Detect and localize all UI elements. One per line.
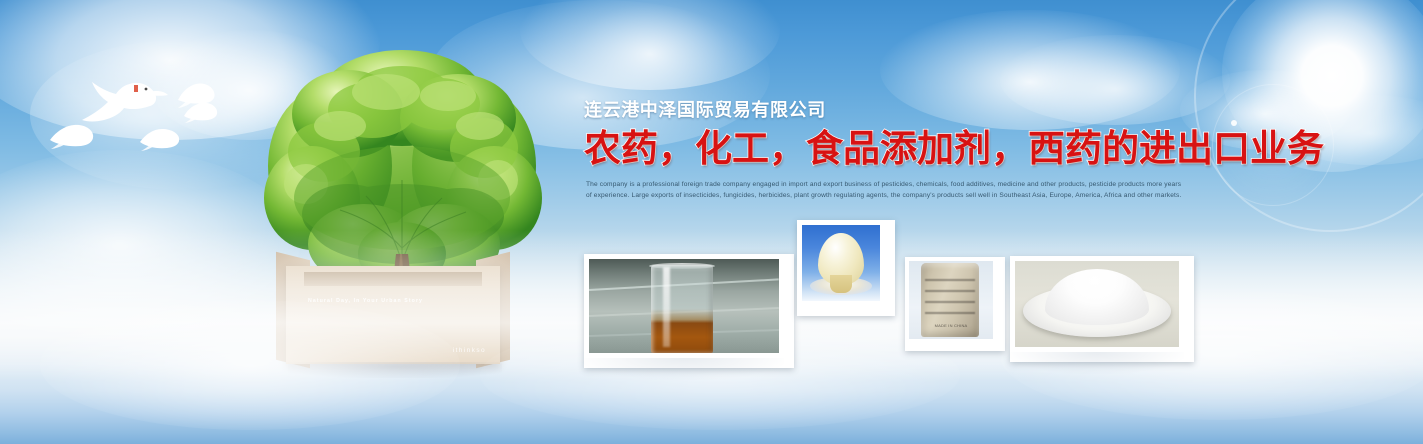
bag-made-in-text: MADE IN CHINA <box>935 323 968 328</box>
box-logo: ithinkso <box>453 347 486 354</box>
glass-bottle <box>651 265 713 353</box>
dove-small-upper-icon <box>172 80 218 114</box>
powder-scoop <box>830 275 852 293</box>
dove-bottom-left-icon <box>46 122 98 156</box>
dove-small-right-icon <box>180 100 220 128</box>
woven-bag-scene: MADE IN CHINA <box>909 261 993 339</box>
bottle-rim <box>649 263 715 269</box>
cloud-center-upper <box>520 0 780 90</box>
headline-text-block: 连云港中泽国际贸易有限公司 农药，化工，食品添加剂，西药的进出口业务 The c… <box>584 98 1204 201</box>
box-slogan: Natural Day, In Your Urban Story <box>308 298 423 304</box>
product-photo-white-powder-plate[interactable] <box>1010 256 1194 362</box>
bottle-scene <box>589 259 779 353</box>
white-powder-heap <box>1045 269 1149 325</box>
bag-label-line-1 <box>925 279 975 281</box>
dove-bottom-mid-icon <box>136 126 184 158</box>
sun-flare-ring-outer <box>1194 0 1423 232</box>
bag-label-line-2 <box>925 290 975 292</box>
yellow-powder-scene <box>802 225 880 301</box>
bag-label-line-3 <box>925 301 975 303</box>
box-inner-top-edge <box>304 272 482 286</box>
product-photo-amber-liquid-bottle[interactable] <box>584 254 794 368</box>
company-name: 连云港中泽国际贸易有限公司 <box>584 98 1204 122</box>
promotional-banner: Natural Day, In Your Urban Story ithinks… <box>0 0 1423 444</box>
bottle-highlight <box>663 267 670 347</box>
product-photo-yellow-powder[interactable] <box>797 220 895 316</box>
sun-flare-dot <box>1231 120 1237 126</box>
dove-large-icon <box>62 58 182 138</box>
company-description: The company is a professional foreign tr… <box>586 180 1186 201</box>
page-title: 农药，化工，食品添加剂，西药的进出口业务 <box>584 128 1204 171</box>
bag-label-line-4 <box>925 312 975 314</box>
horizon-cloud-left <box>40 300 460 430</box>
product-photo-woven-bag[interactable]: MADE IN CHINA <box>905 257 1005 351</box>
white-powder-scene <box>1015 261 1179 347</box>
